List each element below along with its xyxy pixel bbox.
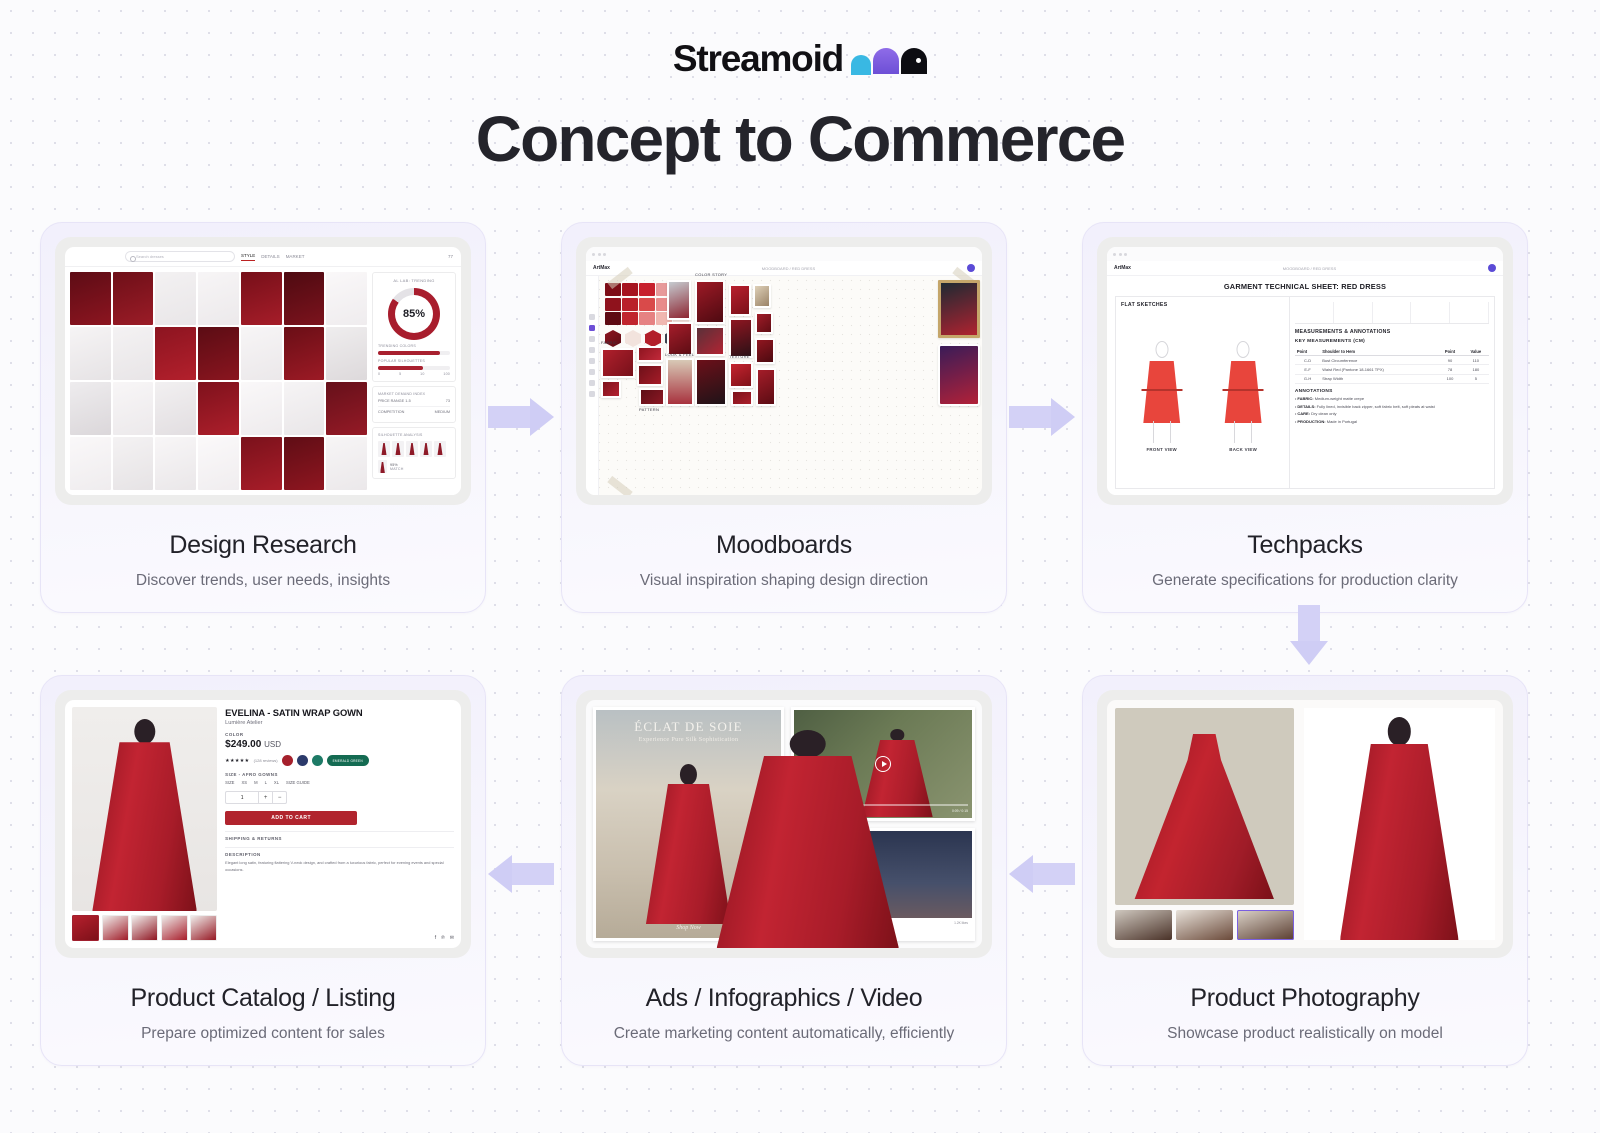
design-research-count-badge: 77 (448, 254, 453, 259)
mail-icon[interactable]: ✉ (450, 935, 454, 941)
dress-thumb[interactable] (284, 437, 325, 490)
teal-swatch[interactable] (312, 755, 323, 766)
annotations-heading: ANNOTATIONS (1295, 389, 1489, 394)
model-figure (1340, 717, 1459, 940)
tape-decoration (607, 476, 632, 495)
dress-thumb[interactable] (241, 272, 282, 325)
dress-thumb[interactable] (113, 327, 154, 380)
techpack-header: ArtMax MOODBOARD / RED DRESS (1107, 261, 1503, 276)
description-label: DESCRIPTION (225, 852, 454, 857)
rating-and-swatches: ★★★★★ (128 reviews) EMERALD GREEN (225, 755, 454, 766)
text-icon[interactable] (589, 336, 595, 342)
color-swatch[interactable] (622, 283, 638, 296)
design-research-preview: Search dresses STYLE DETAILS MARKET 77 (55, 237, 471, 505)
card-title-design-research: Design Research (169, 531, 356, 560)
silhouette-thumb[interactable] (434, 441, 446, 457)
cell-point: C-D (1295, 356, 1320, 365)
moodboard-photo[interactable] (938, 344, 980, 406)
card-title-product-photography: Product Photography (1190, 984, 1419, 1013)
dress-thumb[interactable] (241, 382, 282, 435)
card-subtitle-product-catalog: Prepare optimized content for sales (141, 1025, 385, 1043)
scale-tick: 10 (420, 372, 424, 376)
silhouette-thumb[interactable] (378, 441, 390, 457)
social-model (791, 828, 899, 942)
dress-thumb[interactable] (155, 382, 196, 435)
rating-stars: ★★★★★ (225, 758, 249, 764)
dress-thumb[interactable] (241, 437, 282, 490)
design-research-tab-market[interactable]: MARKET (286, 254, 305, 259)
product-name: EVELINA - SATIN WRAP GOWN (225, 707, 454, 718)
annotation-item: • FABRIC: Medium-weight matte crepe (1295, 396, 1489, 401)
front-sketch (1135, 339, 1189, 447)
card-moodboards[interactable]: ArtMax MOODBOARD / RED DRESS (561, 222, 1007, 613)
moodboard-photo[interactable] (637, 346, 663, 362)
window-dots-icon (592, 253, 606, 256)
logo-arc-purple-icon (873, 48, 899, 74)
silhouette-panel-title: SILHOUETTE ANALYSIS (378, 433, 450, 437)
stat-label: COMPETITION (378, 410, 404, 414)
arrow-ads-to-catalog-icon (488, 855, 554, 893)
scale-tick: 5 (399, 372, 401, 376)
product-thumbnail[interactable] (161, 915, 188, 941)
moodboard-note: PATTERN (639, 407, 659, 412)
card-title-moodboards: Moodboards (716, 531, 852, 560)
color-swatch[interactable] (622, 298, 638, 311)
arrow-tech-to-photo-icon (1290, 605, 1328, 665)
workflow-grid: Search dresses STYLE DETAILS MARKET 77 (40, 222, 1560, 1066)
midnight-navy-swatch[interactable] (297, 755, 308, 766)
dress-thumb[interactable] (284, 272, 325, 325)
moodboard-photo-framed[interactable] (938, 280, 980, 338)
measurements-table: Point Shoulder to Hem Point Value C-D Bu… (1295, 347, 1489, 384)
card-product-photography[interactable]: Product Photography Showcase product rea… (1082, 675, 1528, 1066)
design-research-tab-details[interactable]: DETAILS (261, 254, 279, 259)
techpack-preview: ArtMax MOODBOARD / RED DRESS GARMENT TEC… (1097, 237, 1513, 505)
market-panel: MARKET DEMAND INDEX PRICE RANGE 1-5 73 C… (372, 386, 456, 423)
popular-silhouettes-label: POPULAR SILHOUETTES (378, 359, 450, 363)
color-label: COLOR (225, 732, 454, 737)
quantity-stepper[interactable]: 1 + − (225, 791, 287, 804)
product-price: $249.00 USD (225, 739, 454, 750)
silhouette-thumb[interactable] (392, 441, 404, 457)
moodboard-toolbar[interactable] (586, 276, 599, 495)
cell-value: 110 (1463, 356, 1489, 365)
dress-thumb[interactable] (326, 272, 367, 325)
table-row: G-H Strap Width 100 5 (1295, 374, 1489, 383)
video-timecode: 0:09 / 0:15 (952, 809, 968, 813)
moodboard-photo[interactable] (601, 380, 621, 398)
moodboard-photo[interactable] (601, 348, 635, 378)
trending-colors-bar (378, 351, 450, 355)
cell-value: 180 (1463, 365, 1489, 374)
card-product-catalog[interactable]: EVELINA - SATIN WRAP GOWN Lumière Atelie… (40, 675, 486, 1066)
model-face-3[interactable] (1237, 910, 1294, 940)
techpack-sheet: GARMENT TECHNICAL SHEET: RED DRESS FLAT … (1107, 276, 1503, 495)
scale-tick: 100 (443, 372, 450, 376)
image-icon[interactable] (589, 347, 595, 353)
stat-value: MEDIUM (435, 410, 450, 414)
card-title-techpacks: Techpacks (1247, 531, 1362, 560)
facebook-icon[interactable]: f (435, 935, 436, 941)
trending-colors-label: TRENDING COLORS (378, 344, 450, 348)
model-face-2[interactable] (1176, 910, 1233, 940)
quantity-value[interactable]: 1 (226, 795, 258, 801)
shape-icon[interactable] (589, 358, 595, 364)
moodboard-photo[interactable] (666, 358, 694, 406)
table-header-row: Point Shoulder to Hem Point Value (1295, 347, 1489, 356)
product-hero-image[interactable] (72, 707, 217, 911)
dress-thumb[interactable] (155, 327, 196, 380)
col-description: Shoulder to Hem (1320, 347, 1437, 356)
window-chrome (1107, 247, 1503, 261)
avatar[interactable] (1488, 264, 1496, 272)
workflow-row-top: Search dresses STYLE DETAILS MARKET 77 (40, 222, 1560, 613)
measurements-heading: MEASUREMENTS & ANNOTATIONS (1295, 329, 1489, 335)
cell-point: E-F (1295, 365, 1320, 374)
size-option-xs[interactable]: XS (241, 780, 247, 785)
accent-shapes-row[interactable] (605, 330, 976, 347)
dress-thumb[interactable] (70, 437, 111, 490)
dress-thumb[interactable] (326, 327, 367, 380)
avatar[interactable] (967, 264, 975, 272)
card-title-product-catalog: Product Catalog / Listing (131, 984, 396, 1013)
design-research-toolbar: Search dresses STYLE DETAILS MARKET 77 (65, 247, 461, 267)
design-research-image-grid[interactable] (70, 272, 367, 490)
annotation-item: • PRODUCTION: Made in Portugal (1295, 419, 1489, 424)
dress-thumb[interactable] (241, 327, 282, 380)
silhouette-thumb[interactable] (406, 441, 418, 457)
size-guide-link[interactable]: SIZE GUIDE (286, 780, 310, 785)
product-thumbnail[interactable] (102, 915, 129, 941)
dress-thumb[interactable] (113, 272, 154, 325)
window-chrome (586, 247, 982, 261)
cell-description: Bust Circumference (1320, 356, 1437, 365)
silhouette-thumb[interactable] (420, 441, 432, 457)
dress-thumb[interactable] (198, 327, 239, 380)
moodboard-photo[interactable] (753, 284, 771, 308)
moodboard-note: COLOR STORY (695, 272, 727, 277)
silhouette-match-thumb (378, 460, 387, 473)
model-face-selector[interactable] (1115, 910, 1294, 940)
moodboard-photo[interactable] (729, 284, 751, 316)
flat-sketches-section: FLAT SKETCHES FRONT VIEW (1116, 297, 1290, 488)
table-row: E-F Waist Red (Pantone 18-1661 TPX) 78 1… (1295, 365, 1489, 374)
frame-icon[interactable] (589, 325, 595, 331)
dress-thumb[interactable] (113, 382, 154, 435)
arrow-photo-to-ads-icon (1009, 855, 1075, 893)
color-swatch[interactable] (622, 312, 638, 325)
dress-thumb[interactable] (113, 437, 154, 490)
design-research-tab-style[interactable]: STYLE (241, 253, 255, 261)
share-icons[interactable]: f ℗ ✉ (225, 935, 454, 941)
annotation-item: • DETAILS: Fully lined, invisible back z… (1295, 404, 1489, 409)
comment-icon[interactable] (589, 380, 595, 386)
review-count: (128 reviews) (254, 758, 278, 763)
streamoid-logo-mark-icon (851, 44, 927, 74)
page-title: Concept to Commerce (0, 102, 1600, 176)
size-option-l[interactable]: L (265, 780, 267, 785)
color-swatch[interactable] (639, 283, 655, 296)
product-thumbnail[interactable] (131, 915, 158, 941)
hexagon-swatch[interactable] (625, 330, 641, 347)
card-subtitle-design-research: Discover trends, user needs, insights (136, 572, 390, 590)
stat-value: 73 (446, 399, 450, 403)
arrow-design-to-mood-icon (488, 398, 554, 436)
card-title-ads: Ads / Infographics / Video (646, 984, 923, 1013)
moodboard-photo[interactable] (756, 368, 776, 406)
product-brand: Lumière Atelier (225, 720, 454, 726)
product-photography-preview (1097, 690, 1513, 958)
moodboard-photo[interactable] (695, 358, 727, 406)
brand-wordmark: Streamoid (673, 38, 843, 80)
logo-arc-blue-icon (851, 55, 871, 75)
dress-thumb[interactable] (155, 437, 196, 490)
scale-tick: 0 (378, 372, 380, 376)
moodboard-photo[interactable] (637, 364, 663, 386)
silhouette-match-caption: MATCH (390, 467, 404, 471)
hexagon-swatch[interactable] (645, 330, 661, 347)
moodboard-preview: ArtMax MOODBOARD / RED DRESS (576, 237, 992, 505)
moodboard-photo[interactable] (695, 326, 725, 356)
quantity-decrement[interactable]: − (272, 792, 286, 804)
social-post-image (794, 831, 972, 919)
sheet-title: GARMENT TECHNICAL SHEET: RED DRESS (1115, 282, 1495, 291)
card-techpacks[interactable]: ArtMax MOODBOARD / RED DRESS GARMENT TEC… (1082, 222, 1528, 613)
cell-description: Strap Width (1320, 374, 1437, 383)
color-swatch[interactable] (639, 312, 655, 325)
cell-description: Waist Red (Pantone 18-1661 TPX) (1320, 365, 1437, 374)
arrow-mood-to-tech-icon (1009, 398, 1075, 436)
cell-point2: 90 (1437, 356, 1462, 365)
moodboard-note: FABRIC (601, 340, 617, 345)
moodboard-header: ArtMax MOODBOARD / RED DRESS (586, 261, 982, 276)
card-design-research[interactable]: Search dresses STYLE DETAILS MARKET 77 (40, 222, 486, 613)
spec-gridlines (1295, 302, 1489, 324)
pen-icon[interactable] (589, 369, 595, 375)
key-measurements-heading: KEY MEASUREMENTS (CM) (1295, 339, 1489, 344)
color-swatch[interactable] (605, 312, 621, 325)
moodboard-photo[interactable] (729, 362, 753, 388)
app-name: ArtMax (1114, 265, 1131, 271)
table-row: C-D Bust Circumference 90 110 (1295, 356, 1489, 365)
dress-thumb[interactable] (326, 382, 367, 435)
workflow-row-bottom: EVELINA - SATIN WRAP GOWN Lumière Atelie… (40, 675, 1560, 1066)
cell-point2: 78 (1437, 365, 1462, 374)
size-section-label: SIZE - AFRO GOWNS (225, 772, 454, 777)
moodboard-canvas[interactable]: COLOR STORY FABRIC LOOK & FEEL TEXTURE P… (586, 276, 982, 495)
dress-thumb[interactable] (155, 272, 196, 325)
document-title: MOODBOARD / RED DRESS (610, 266, 967, 271)
card-ads-infographics-video[interactable]: ÉCLAT DE SOIE Experience Pure Silk Sophi… (561, 675, 1007, 1066)
col-value: Value (1463, 347, 1489, 356)
app-name: ArtMax (593, 265, 610, 271)
moodboard-photo[interactable] (731, 390, 753, 406)
card-subtitle-ads: Create marketing content automatically, … (614, 1025, 955, 1043)
silhouette-thumbs[interactable] (378, 441, 450, 457)
trend-value: 85% (403, 308, 425, 320)
design-research-insights-panel: AL LAB: TRENDING 85% TRENDING COLORS POP… (372, 272, 456, 490)
moodboard-photo[interactable] (695, 280, 725, 324)
trend-donut-chart: 85% (388, 288, 440, 340)
color-swatch[interactable] (639, 298, 655, 311)
moodboard-note: LOOK & FEEL (665, 352, 694, 357)
model-face-1[interactable] (1115, 910, 1172, 940)
design-research-search-input[interactable]: Search dresses (125, 251, 235, 262)
moodboard-photo[interactable] (639, 388, 665, 406)
moodboard-photo[interactable] (755, 338, 775, 364)
ads-preview: ÉCLAT DE SOIE Experience Pure Silk Sophi… (576, 690, 992, 958)
dress-thumb[interactable] (198, 272, 239, 325)
window-dots-icon (1113, 253, 1127, 256)
trend-panel-title: AL LAB: TRENDING (378, 278, 450, 283)
size-label: SIZE (225, 780, 234, 785)
dress-thumb[interactable] (70, 382, 111, 435)
on-model-render[interactable] (1304, 708, 1495, 940)
cursor-icon[interactable] (589, 314, 595, 320)
size-option-m[interactable]: M (254, 780, 258, 785)
view-caption-back: BACK VIEW (1216, 447, 1270, 452)
col-point: Point (1295, 347, 1320, 356)
gown-silhouette (1135, 734, 1274, 899)
dress-thumb[interactable] (198, 437, 239, 490)
product-thumbnail-strip[interactable] (72, 915, 217, 941)
view-caption-front: FRONT VIEW (1135, 447, 1189, 452)
color-swatch[interactable] (605, 298, 621, 311)
dress-thumb[interactable] (198, 382, 239, 435)
popular-silhouettes-bar (378, 366, 450, 370)
logo-arc-black-icon (901, 48, 927, 74)
moodboard-photo[interactable] (667, 322, 693, 356)
quantity-increment[interactable]: + (258, 792, 272, 804)
card-subtitle-product-photography: Showcase product realistically on model (1167, 1025, 1443, 1043)
dress-thumb[interactable] (326, 437, 367, 490)
card-subtitle-techpacks: Generate specifications for production c… (1152, 572, 1458, 590)
document-title: MOODBOARD / RED DRESS (1131, 266, 1488, 271)
product-listing-preview: EVELINA - SATIN WRAP GOWN Lumière Atelie… (55, 690, 471, 958)
card-subtitle-moodboards: Visual inspiration shaping design direct… (640, 572, 928, 590)
col-point-2: Point (1437, 347, 1462, 356)
size-option-xl[interactable]: XL (274, 780, 279, 785)
brand-logo: Streamoid (0, 0, 1600, 80)
product-description: Elegant long satin, featuring flattering… (225, 860, 454, 873)
layers-icon[interactable] (589, 391, 595, 397)
product-thumbnail[interactable] (72, 915, 99, 941)
moodboard-photo[interactable] (755, 312, 773, 334)
trend-panel: AL LAB: TRENDING 85% TRENDING COLORS POP… (372, 272, 456, 382)
measurements-section: MEASUREMENTS & ANNOTATIONS KEY MEASUREME… (1290, 297, 1494, 488)
cell-point: G-H (1295, 374, 1320, 383)
stat-row: PRICE RANGE 1-5 73 (378, 396, 450, 407)
stat-row: COMPETITION MEDIUM (378, 407, 450, 417)
cell-point2: 100 (1437, 374, 1462, 383)
moodboard-photo[interactable] (667, 280, 691, 320)
silhouette-panel: SILHOUETTE ANALYSIS (372, 427, 456, 479)
shipping-returns-label[interactable]: SHIPPING & RETURNS (225, 836, 454, 841)
back-sketch (1216, 339, 1270, 447)
social-post-card[interactable]: @EclatDeSoie 1.2K likes Ready for your n… (791, 828, 975, 942)
pinterest-icon[interactable]: ℗ (441, 935, 445, 941)
moodboard-note: TEXTURE (729, 354, 750, 359)
stat-label: PRICE RANGE 1-5 (378, 399, 411, 403)
flat-product-shot[interactable] (1115, 708, 1294, 905)
size-selector[interactable]: SIZE XS M L XL SIZE GUIDE (225, 780, 454, 785)
crimson-red-swatch[interactable] (282, 755, 293, 766)
social-like-count: 1.2K likes (954, 921, 968, 925)
selected-color-pill[interactable]: EMERALD GREEN (327, 755, 369, 766)
dress-thumb[interactable] (70, 327, 111, 380)
add-to-cart-button[interactable]: ADD TO CART (225, 811, 357, 825)
dress-thumb[interactable] (284, 327, 325, 380)
moodboard-photo[interactable] (729, 318, 753, 358)
product-thumbnail[interactable] (190, 915, 217, 941)
model-figure (92, 719, 197, 911)
annotation-item: • CARE: Dry clean only (1295, 411, 1489, 416)
cell-value: 5 (1463, 374, 1489, 383)
dress-thumb[interactable] (284, 382, 325, 435)
dress-thumb[interactable] (70, 272, 111, 325)
